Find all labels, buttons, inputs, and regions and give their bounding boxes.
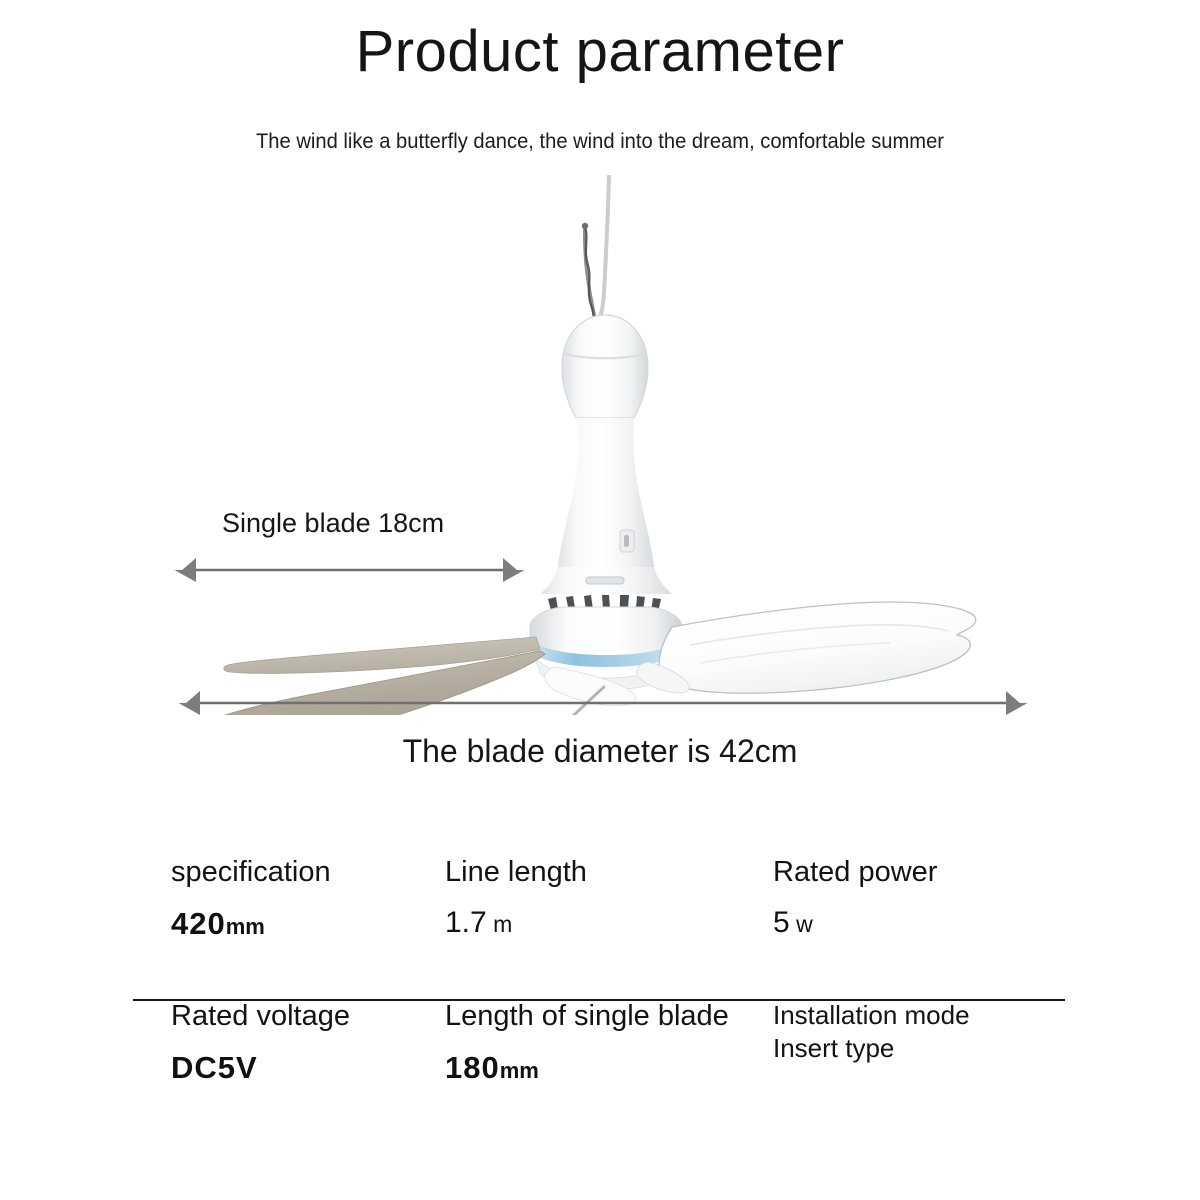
spec-value: DC5V [171, 1050, 433, 1086]
spec-table-row: specification 420mm Line length 1.7 m Ra… [133, 855, 1065, 983]
spec-value-unit: w [790, 911, 813, 937]
spec-value-number: DC5V [171, 1050, 258, 1085]
spec-cell-single-blade-length: Length of single blade 180mm [433, 999, 773, 1149]
motor-housing [540, 315, 672, 594]
spec-label: specification [171, 855, 433, 890]
spec-cell-line-length: Line length 1.7 m [433, 855, 773, 983]
spec-table: specification 420mm Line length 1.7 m Ra… [133, 855, 1065, 1149]
spec-value-unit: m [487, 911, 513, 937]
spec-cell-installation-mode: Installation mode Insert type [773, 999, 1065, 1149]
spec-cell-rated-voltage: Rated voltage DC5V [133, 999, 433, 1149]
spec-value: 1.7 m [445, 906, 773, 940]
spec-label: Length of single blade [445, 999, 773, 1034]
spec-value-number: 1.7 [445, 906, 487, 939]
page-subtitle: The wind like a butterfly dance, the win… [24, 130, 1176, 154]
spec-label: Rated voltage [171, 999, 433, 1034]
spec-value: 5 w [773, 906, 1065, 940]
product-illustration [0, 175, 1200, 715]
spec-value: 180mm [445, 1050, 773, 1086]
blade-diameter-dimension-label: The blade diameter is 42cm [0, 733, 1200, 770]
spec-label: Installation mode Insert type [773, 999, 973, 1066]
spec-value-unit: mm [500, 1058, 539, 1083]
spec-cell-specification: specification 420mm [133, 855, 433, 983]
spec-label: Line length [445, 855, 773, 890]
hanging-cord-icon [582, 175, 609, 327]
spec-value-number: 5 [773, 906, 790, 939]
spec-value-unit: mm [226, 914, 265, 939]
spec-cell-rated-power: Rated power 5 w [773, 855, 1065, 983]
spec-label: Rated power [773, 855, 1065, 890]
spec-value-number: 180 [445, 1050, 500, 1085]
spec-table-row: Rated voltage DC5V Length of single blad… [133, 983, 1065, 1149]
single-blade-dimension-label: Single blade 18cm [222, 508, 444, 539]
spec-value: 420mm [171, 906, 433, 942]
spec-value-number: 420 [171, 906, 226, 941]
spec-table-divider [133, 999, 1065, 1001]
page-title: Product parameter [0, 18, 1200, 85]
